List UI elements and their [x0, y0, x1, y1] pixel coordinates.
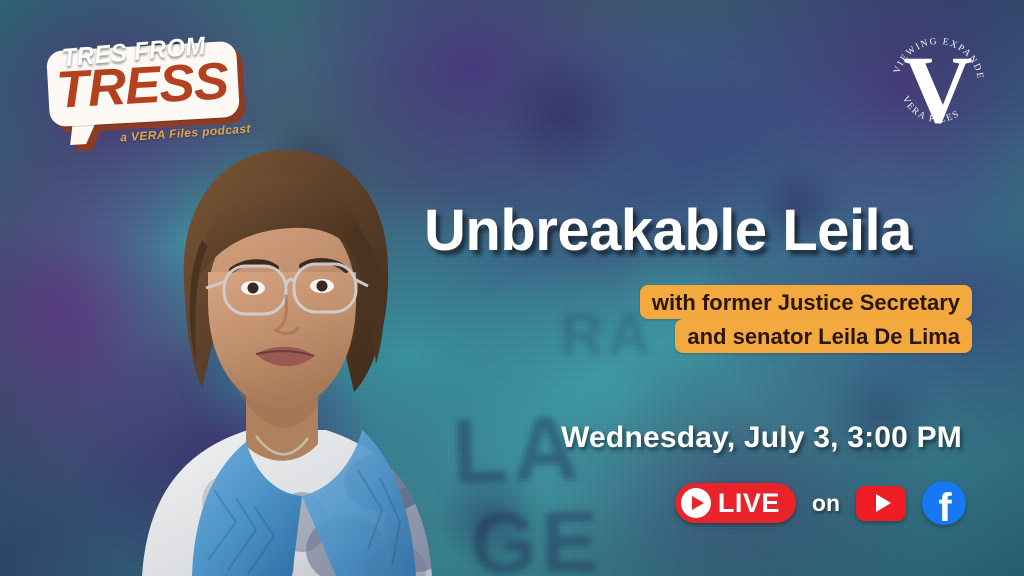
- live-label: LIVE: [718, 490, 780, 517]
- subtitle-line-1: with former Justice Secretary: [640, 285, 972, 319]
- page-title: Unbreakable Leila: [424, 202, 912, 260]
- podcast-logo: TRES FROM TRESS a VERA Files podcast: [24, 18, 264, 142]
- logo-main-line: TRESS: [55, 55, 229, 117]
- subtitle-banner: with former Justice Secretary and senato…: [640, 285, 972, 353]
- vera-letter-v: V: [903, 36, 972, 138]
- live-platforms-row: LIVE on f: [675, 481, 966, 525]
- facebook-letter: f: [938, 486, 952, 525]
- facebook-icon[interactable]: f: [922, 481, 966, 525]
- livestream-announcement-poster: LA GE RA: [0, 0, 1024, 576]
- youtube-icon[interactable]: [856, 486, 906, 521]
- portrait-leila-de-lima: [96, 130, 456, 576]
- live-badge[interactable]: LIVE: [675, 483, 796, 523]
- on-label: on: [812, 490, 840, 517]
- subtitle-line-2: and senator Leila De Lima: [675, 319, 972, 353]
- schedule-date: Wednesday, July 3, 3:00 PM: [561, 421, 962, 455]
- play-icon: [681, 488, 711, 518]
- vera-files-logo: VIEWING EXPANDED VERA FILES V: [882, 26, 994, 138]
